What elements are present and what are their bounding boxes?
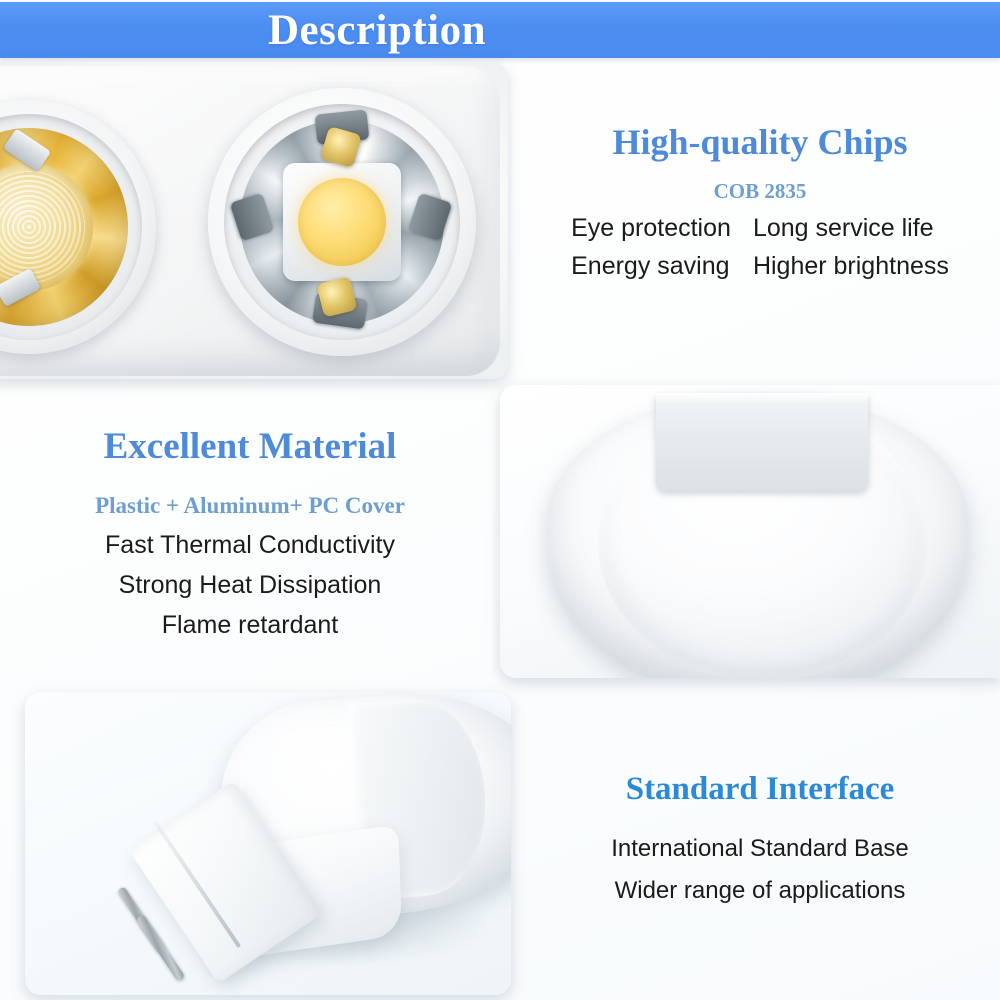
- chips-feature-eye-protection: Eye protection: [571, 214, 731, 243]
- material-feature-thermal-conductivity: Fast Thermal Conductivity: [20, 531, 480, 560]
- chips-feature-energy-saving: Energy saving: [571, 252, 729, 281]
- bulb-right-cob-chip: 2835: [208, 88, 476, 356]
- material-feature-flame-retardant: Flame retardant: [20, 611, 480, 640]
- chips-feature-higher-brightness: Higher brightness: [753, 252, 949, 281]
- section-excellent-material: Excellent Material Plastic + Aluminum+ P…: [20, 428, 480, 640]
- material-heading: Excellent Material: [20, 428, 480, 467]
- bulb-cover-tab: [656, 393, 868, 491]
- description-banner: Description: [0, 2, 1000, 58]
- interface-feature-wider-range: Wider range of applications: [530, 877, 990, 905]
- chips-subheading: COB 2835: [520, 179, 1000, 204]
- photo-mr16-base-pins: [25, 692, 511, 995]
- material-feature-heat-dissipation: Strong Heat Dissipation: [20, 571, 480, 600]
- section-high-quality-chips: High-quality Chips COB 2835 Eye protecti…: [520, 124, 1000, 281]
- chips-feature-column-right: Long service life Higher brightness: [753, 214, 949, 281]
- section-standard-interface: Standard Interface International Standar…: [530, 772, 990, 905]
- photo-bulb-cover-top-view: [500, 385, 1000, 678]
- chips-feature-long-service-life: Long service life: [753, 214, 934, 243]
- chips-feature-columns: Eye protection Energy saving Long servic…: [520, 214, 1000, 281]
- photo-two-led-bulbs-front-view: 2835: [0, 62, 508, 379]
- bulb-right-cob-emitter: [298, 178, 386, 266]
- page-title: Description: [268, 9, 486, 52]
- chips-feature-column-left: Eye protection Energy saving: [571, 214, 731, 281]
- chips-heading: High-quality Chips: [520, 124, 1000, 162]
- interface-feature-standard-base: International Standard Base: [530, 835, 990, 863]
- bulb-right-chip-substrate: 2835: [283, 163, 401, 281]
- material-subheading: Plastic + Aluminum+ PC Cover: [20, 493, 480, 519]
- interface-heading: Standard Interface: [530, 772, 990, 807]
